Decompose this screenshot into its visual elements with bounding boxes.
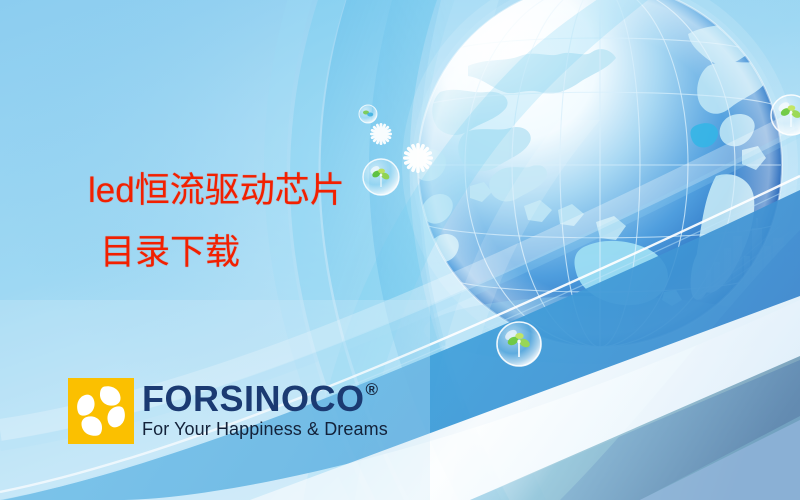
company-logo: FORSINOCO ® For Your Happiness & Dreams xyxy=(68,378,388,444)
brand-name: FORSINOCO xyxy=(142,380,365,418)
brand-name-row: FORSINOCO ® xyxy=(142,380,388,418)
banner-canvas: led恒流驱动芯片 目录下载 FORSINOCO ® xyxy=(0,0,800,500)
registered-trademark-icon: ® xyxy=(366,381,379,398)
logo-text-block: FORSINOCO ® For Your Happiness & Dreams xyxy=(142,378,388,439)
pinwheel-bubble xyxy=(497,322,541,366)
pinwheel-bubble xyxy=(359,105,377,123)
four-petal-pinwheel-icon xyxy=(68,378,134,444)
pinwheel-bubble xyxy=(363,159,399,195)
brand-tagline: For Your Happiness & Dreams xyxy=(142,419,388,439)
logo-mark-tile xyxy=(68,378,134,444)
asterisk-sparkle xyxy=(403,143,433,173)
asterisk-sparkle xyxy=(370,123,392,145)
